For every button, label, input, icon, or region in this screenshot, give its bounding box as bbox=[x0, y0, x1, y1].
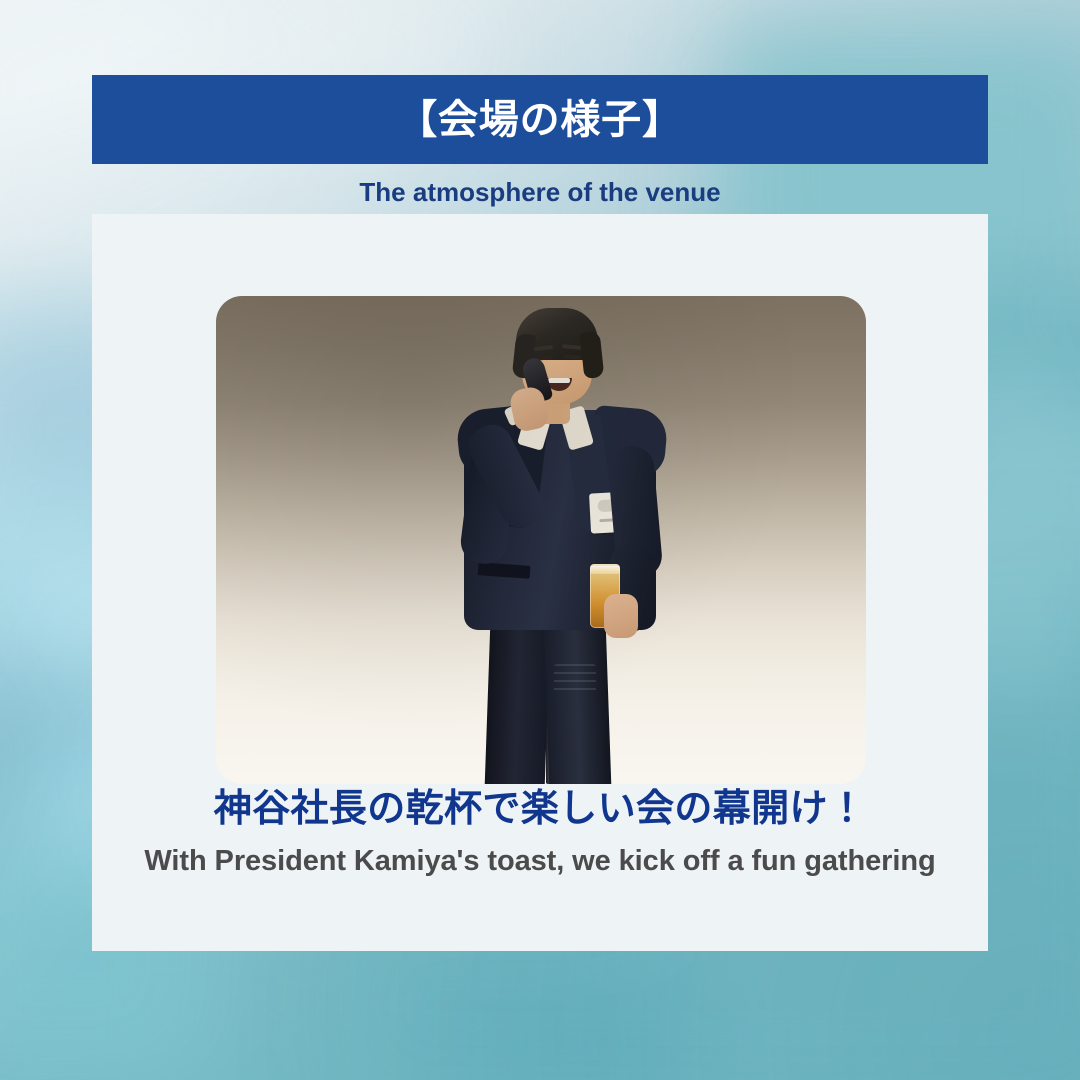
trouser-crease bbox=[554, 664, 596, 696]
page-title: 【会場の様子】 bbox=[397, 100, 683, 140]
teeth bbox=[548, 378, 570, 383]
venue-photo bbox=[216, 296, 866, 784]
caption-japanese: 神谷社長の乾杯で楽しい会の幕開け！ bbox=[92, 787, 988, 832]
header-bar: 【会場の様子】 bbox=[92, 75, 988, 164]
caption-english: With President Kamiya's toast, we kick o… bbox=[92, 844, 988, 879]
hand-right bbox=[604, 594, 638, 638]
slide-canvas: 【会場の様子】 The atmosphere of the venue bbox=[0, 0, 1080, 1080]
hair-sideburn-right bbox=[580, 331, 605, 379]
header-subtitle: The atmosphere of the venue bbox=[92, 170, 988, 214]
content-panel: 神谷社長の乾杯で楽しい会の幕開け！ With President Kamiya'… bbox=[92, 214, 988, 951]
